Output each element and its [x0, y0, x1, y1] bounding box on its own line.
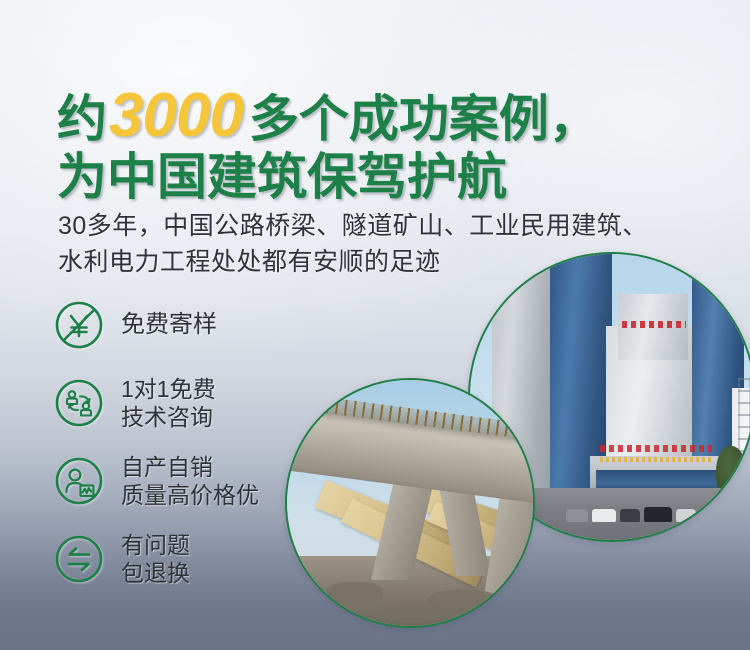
- feature-label: 自产自销 质量高价格优: [121, 453, 259, 509]
- feature-label-line-2: 质量高价格优: [121, 481, 259, 509]
- headline: 约 3000 多个成功案例， 为中国建筑保驾护航: [57, 82, 599, 202]
- person-chart-icon: [53, 455, 105, 507]
- feature-item-self-production: 自产自销 质量高价格优: [53, 450, 259, 512]
- feature-item-return-exchange: 有问题 包退换: [53, 528, 259, 590]
- building-car: [566, 509, 588, 522]
- feature-label-line-1: 1对1免费: [121, 375, 216, 403]
- feature-item-free-sample: 免费寄样: [53, 294, 259, 356]
- building-car: [592, 509, 616, 522]
- two-people-exchange-icon: [53, 377, 105, 429]
- headline-suffix: 多个成功案例，: [249, 94, 599, 144]
- two-way-arrows-icon: [53, 533, 105, 585]
- headline-case-count: 3000: [109, 85, 243, 147]
- bridge-rubble: [327, 582, 383, 604]
- feature-label-line-2: 包退换: [121, 559, 190, 587]
- building-car: [620, 509, 640, 522]
- feature-label: 免费寄样: [121, 311, 217, 339]
- headline-line-2: 为中国建筑保驾护航: [57, 152, 599, 202]
- building-car: [700, 509, 718, 522]
- bridge-rubble: [383, 602, 443, 622]
- feature-label-line-1: 有问题: [121, 531, 190, 559]
- feature-label-line-1: 免费寄样: [121, 311, 217, 338]
- feature-label-line-1: 自产自销: [121, 453, 259, 481]
- building-rooftop-sign: [622, 321, 686, 328]
- feature-list: 免费寄样: [53, 294, 259, 606]
- building-car: [644, 507, 672, 522]
- feature-label: 1对1免费 技术咨询: [121, 375, 216, 431]
- promo-banner: 约 3000 多个成功案例， 为中国建筑保驾护航 30多年，中国公路桥梁、隧道矿…: [0, 0, 750, 650]
- no-yuan-fee-icon: [53, 299, 105, 351]
- feature-label-line-2: 技术咨询: [121, 403, 216, 431]
- subtitle-line-1: 30多年，中国公路桥梁、隧道矿山、工业民用建筑、: [58, 208, 648, 244]
- concrete-bridge-viaduct-photo: [285, 378, 535, 628]
- headline-line-1: 约 3000 多个成功案例，: [57, 82, 599, 144]
- bridge-photo-content: [287, 380, 533, 626]
- feature-item-one-on-one-consulting: 1对1免费 技术咨询: [53, 372, 259, 434]
- building-car: [676, 509, 696, 522]
- building-entrance-sign-gold: [600, 457, 712, 462]
- feature-label: 有问题 包退换: [121, 531, 190, 587]
- headline-slogan: 为中国建筑保驾护航: [57, 152, 507, 202]
- headline-prefix: 约: [57, 94, 107, 144]
- building-entrance-sign: [600, 445, 712, 452]
